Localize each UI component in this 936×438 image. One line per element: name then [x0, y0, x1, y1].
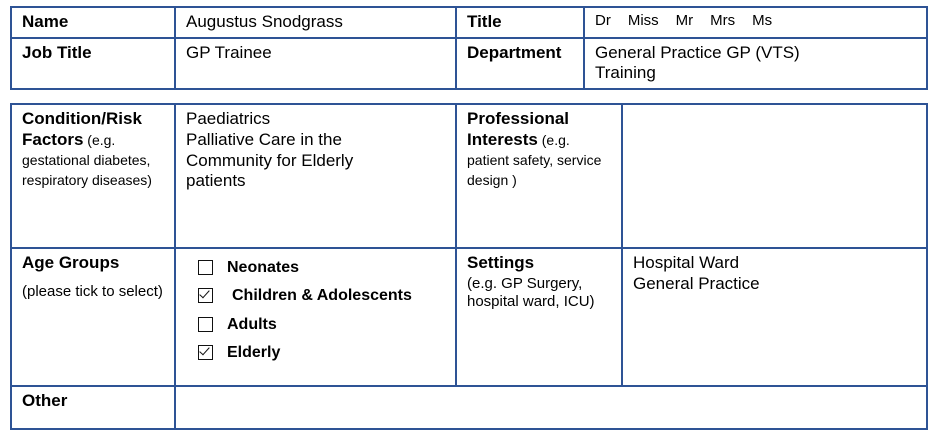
value-name[interactable]: Augustus Snodgrass [175, 7, 456, 38]
clinical-profile-table: Condition/Risk Factors (e.g. gestational… [10, 103, 928, 430]
label-settings: Settings (e.g. GP Surgery, hospital ward… [456, 248, 622, 386]
title-option-miss[interactable]: Miss [628, 12, 659, 30]
checkbox-unchecked-icon[interactable] [198, 317, 213, 332]
age-group-checkbox-list: Neonates Children & Adolescents Adults [198, 258, 447, 362]
table-row-other: Other [11, 386, 927, 429]
list-item-age-adults[interactable]: Adults [198, 315, 447, 334]
value-title-options[interactable]: Dr Miss Mr Mrs Ms [584, 7, 927, 38]
table-row-condition-risk: Condition/Risk Factors (e.g. gestational… [11, 104, 927, 248]
list-item-age-elderly[interactable]: Elderly [198, 343, 447, 362]
list-item-age-children-adolescents[interactable]: Children & Adolescents [198, 286, 447, 305]
value-professional-interests[interactable] [622, 104, 927, 248]
checkbox-unchecked-icon[interactable] [198, 260, 213, 275]
table-row-job-title: Job Title GP Trainee Department General … [11, 38, 927, 89]
title-option-mrs[interactable]: Mrs [710, 12, 735, 30]
label-professional-interests: Professional Interests (e.g. patient saf… [456, 104, 622, 248]
list-item-age-neonates[interactable]: Neonates [198, 258, 447, 277]
table-row-name: Name Augustus Snodgrass Title Dr Miss Mr… [11, 7, 927, 38]
form-page: Name Augustus Snodgrass Title Dr Miss Mr… [0, 0, 936, 438]
title-option-dr[interactable]: Dr [595, 12, 611, 30]
label-name: Name [11, 7, 175, 38]
value-age-groups-checklist[interactable]: Neonates Children & Adolescents Adults [175, 248, 456, 386]
label-age-groups: Age Groups (please tick to select) [11, 248, 175, 386]
label-job-title: Job Title [11, 38, 175, 89]
label-department: Department [456, 38, 584, 89]
value-settings[interactable]: Hospital Ward General Practice [622, 248, 927, 386]
value-condition-risk-factors[interactable]: Paediatrics Palliative Care in the Commu… [175, 104, 456, 248]
value-other[interactable] [175, 386, 927, 429]
label-title: Title [456, 7, 584, 38]
title-option-ms[interactable]: Ms [752, 12, 772, 30]
checkbox-checked-icon[interactable] [198, 288, 213, 303]
title-option-mr[interactable]: Mr [676, 12, 694, 30]
personal-details-table: Name Augustus Snodgrass Title Dr Miss Mr… [10, 6, 928, 90]
title-option-group: Dr Miss Mr Mrs Ms [595, 12, 918, 30]
table-gap [10, 90, 926, 103]
value-department[interactable]: General Practice GP (VTS) Training [584, 38, 927, 89]
value-job-title[interactable]: GP Trainee [175, 38, 456, 89]
label-condition-risk-factors: Condition/Risk Factors (e.g. gestational… [11, 104, 175, 248]
table-row-age-groups: Age Groups (please tick to select) Neona… [11, 248, 927, 386]
checkbox-checked-icon[interactable] [198, 345, 213, 360]
label-other: Other [11, 386, 175, 429]
